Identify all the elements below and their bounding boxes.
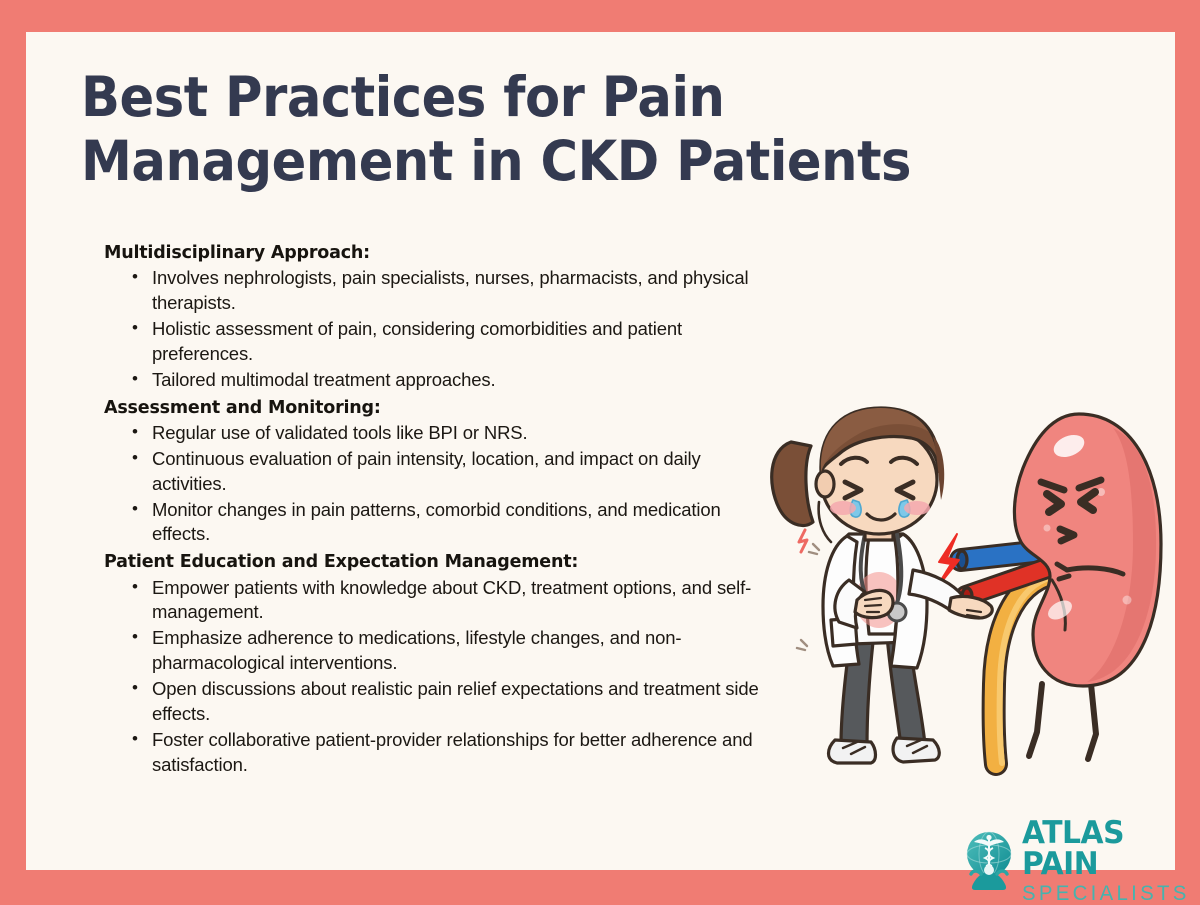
bullet-list-assessment-and-monitoring: Regular use of validated tools like BPI …	[130, 421, 769, 547]
list-item: Holistic assessment of pain, considering…	[130, 317, 769, 367]
list-item: Tailored multimodal treatment approaches…	[130, 368, 769, 393]
section-heading-patient-education-and-expectation-management: Patient Education and Expectation Manage…	[104, 549, 769, 575]
logo-bottom-text: SPECIALISTS	[1022, 883, 1190, 904]
list-item: Monitor changes in pain patterns, comorb…	[130, 498, 769, 548]
logo-top-text: ATLAS PAIN	[1022, 818, 1188, 880]
list-item: Involves nephrologists, pain specialists…	[130, 266, 769, 316]
section-heading-multidisciplinary-approach: Multidisciplinary Approach:	[104, 240, 769, 266]
list-item: Open discussions about realistic pain re…	[130, 677, 769, 727]
list-item: Foster collaborative patient-provider re…	[130, 728, 769, 778]
poster-root: Best Practices for Pain Management in CK…	[0, 0, 1200, 900]
doctor-and-kidney-illustration	[761, 384, 1181, 804]
bullet-list-multidisciplinary-approach: Involves nephrologists, pain specialists…	[130, 266, 769, 392]
list-item: Empower patients with knowledge about CK…	[130, 576, 769, 626]
bullet-list-patient-education: Empower patients with knowledge about CK…	[130, 576, 769, 778]
section-heading-assessment-and-monitoring: Assessment and Monitoring:	[104, 395, 769, 421]
body-content: Multidisciplinary Approach: Involves nep…	[104, 240, 769, 779]
list-item: Regular use of validated tools like BPI …	[130, 421, 769, 446]
logo-wordmark: ATLAS PAIN SPECIALISTS	[1022, 818, 1195, 904]
content-panel: Best Practices for Pain Management in CK…	[26, 32, 1175, 870]
list-item: Continuous evaluation of pain intensity,…	[130, 447, 769, 497]
atlas-pain-specialists-logo[interactable]: ATLAS PAIN SPECIALISTS	[961, 825, 1176, 897]
list-item: Emphasize adherence to medications, life…	[130, 626, 769, 676]
globe-caduceus-icon	[961, 830, 1017, 892]
page-title: Best Practices for Pain Management in CK…	[81, 66, 1020, 194]
